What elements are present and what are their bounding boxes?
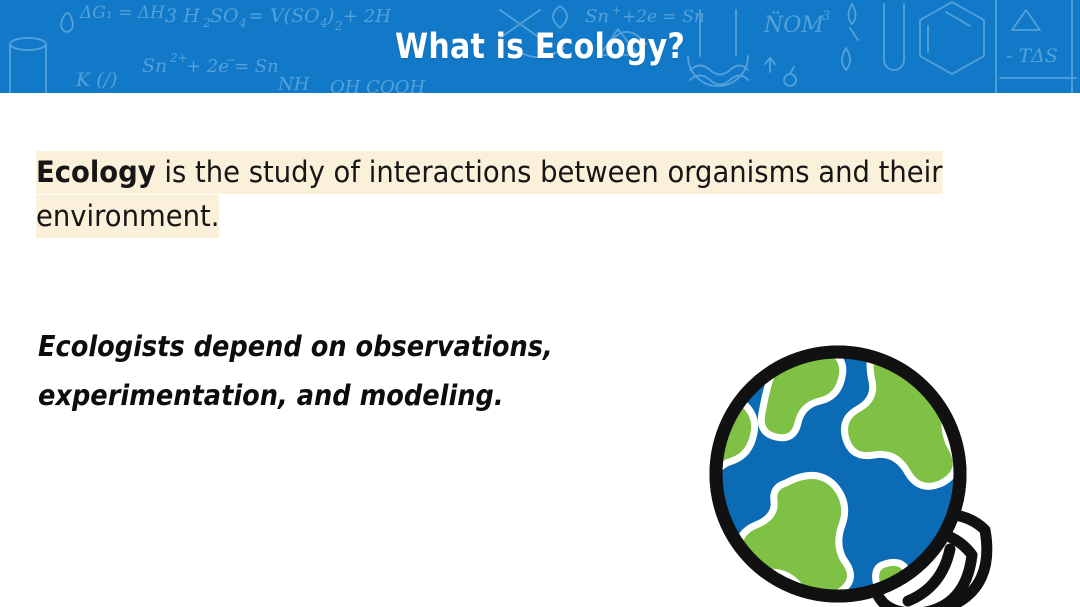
definition-rest-text: is the study of interactions between org… bbox=[36, 155, 943, 233]
earth-globe-icon bbox=[700, 333, 1000, 607]
earth-globe-illustration bbox=[700, 333, 1000, 607]
definition-paragraph: Ecology is the study of interactions bet… bbox=[36, 150, 957, 238]
definition-highlight: Ecology is the study of interactions bet… bbox=[36, 151, 943, 238]
slide-body: Ecology is the study of interactions bet… bbox=[0, 93, 1080, 607]
definition-lead-word: Ecology bbox=[36, 155, 156, 189]
emphasis-paragraph: Ecologists depend on observations, exper… bbox=[38, 322, 632, 420]
slide: ΔG₁ = ΔH 3 H 2 SO 4 = V(SO 4 ) 2 + 2H Sn… bbox=[0, 0, 1080, 607]
globe-body bbox=[700, 339, 960, 598]
page-title: What is Ecology? bbox=[76, 0, 1005, 93]
svg-text:- TΔS: - TΔS bbox=[1006, 45, 1058, 67]
slide-header: ΔG₁ = ΔH 3 H 2 SO 4 = V(SO 4 ) 2 + 2H Sn… bbox=[0, 0, 1080, 93]
